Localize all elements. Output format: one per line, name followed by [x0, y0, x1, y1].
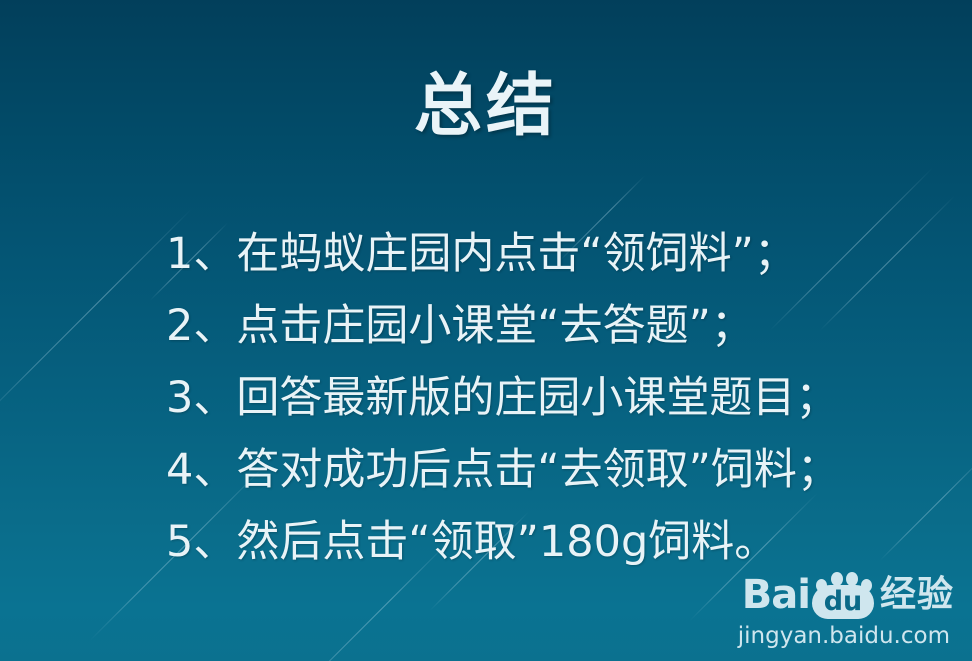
baidu-watermark-url: jingyan.baidu.com [738, 623, 950, 649]
baidu-brand-inner-text: du [820, 587, 866, 617]
baidu-watermark: Bai du 经验 jingyan.baidu.com [720, 571, 960, 651]
baidu-logo: Bai du 经验 [742, 571, 954, 619]
baidu-jingyan-text: 经验 [880, 577, 954, 613]
steps-list: 1、在蚂蚁庄园内点击“领饲料”； 2、点击庄园小课堂“去答题”； 3、回答最新版… [166, 218, 906, 578]
presentation-slide: 总结 1、在蚂蚁庄园内点击“领饲料”； 2、点击庄园小课堂“去答题”； 3、回答… [0, 0, 972, 661]
bear-paw-icon: du [810, 571, 876, 619]
list-item: 3、回答最新版的庄园小课堂题目； [166, 362, 906, 434]
baidu-brand-text: Bai [742, 575, 810, 615]
list-item: 4、答对成功后点击“去领取”饲料； [166, 434, 906, 506]
list-item: 5、然后点击“领取”180g饲料。 [166, 506, 906, 578]
page-title: 总结 [0, 50, 972, 149]
list-item: 2、点击庄园小课堂“去答题”； [166, 290, 906, 362]
list-item: 1、在蚂蚁庄园内点击“领饲料”； [166, 218, 906, 290]
